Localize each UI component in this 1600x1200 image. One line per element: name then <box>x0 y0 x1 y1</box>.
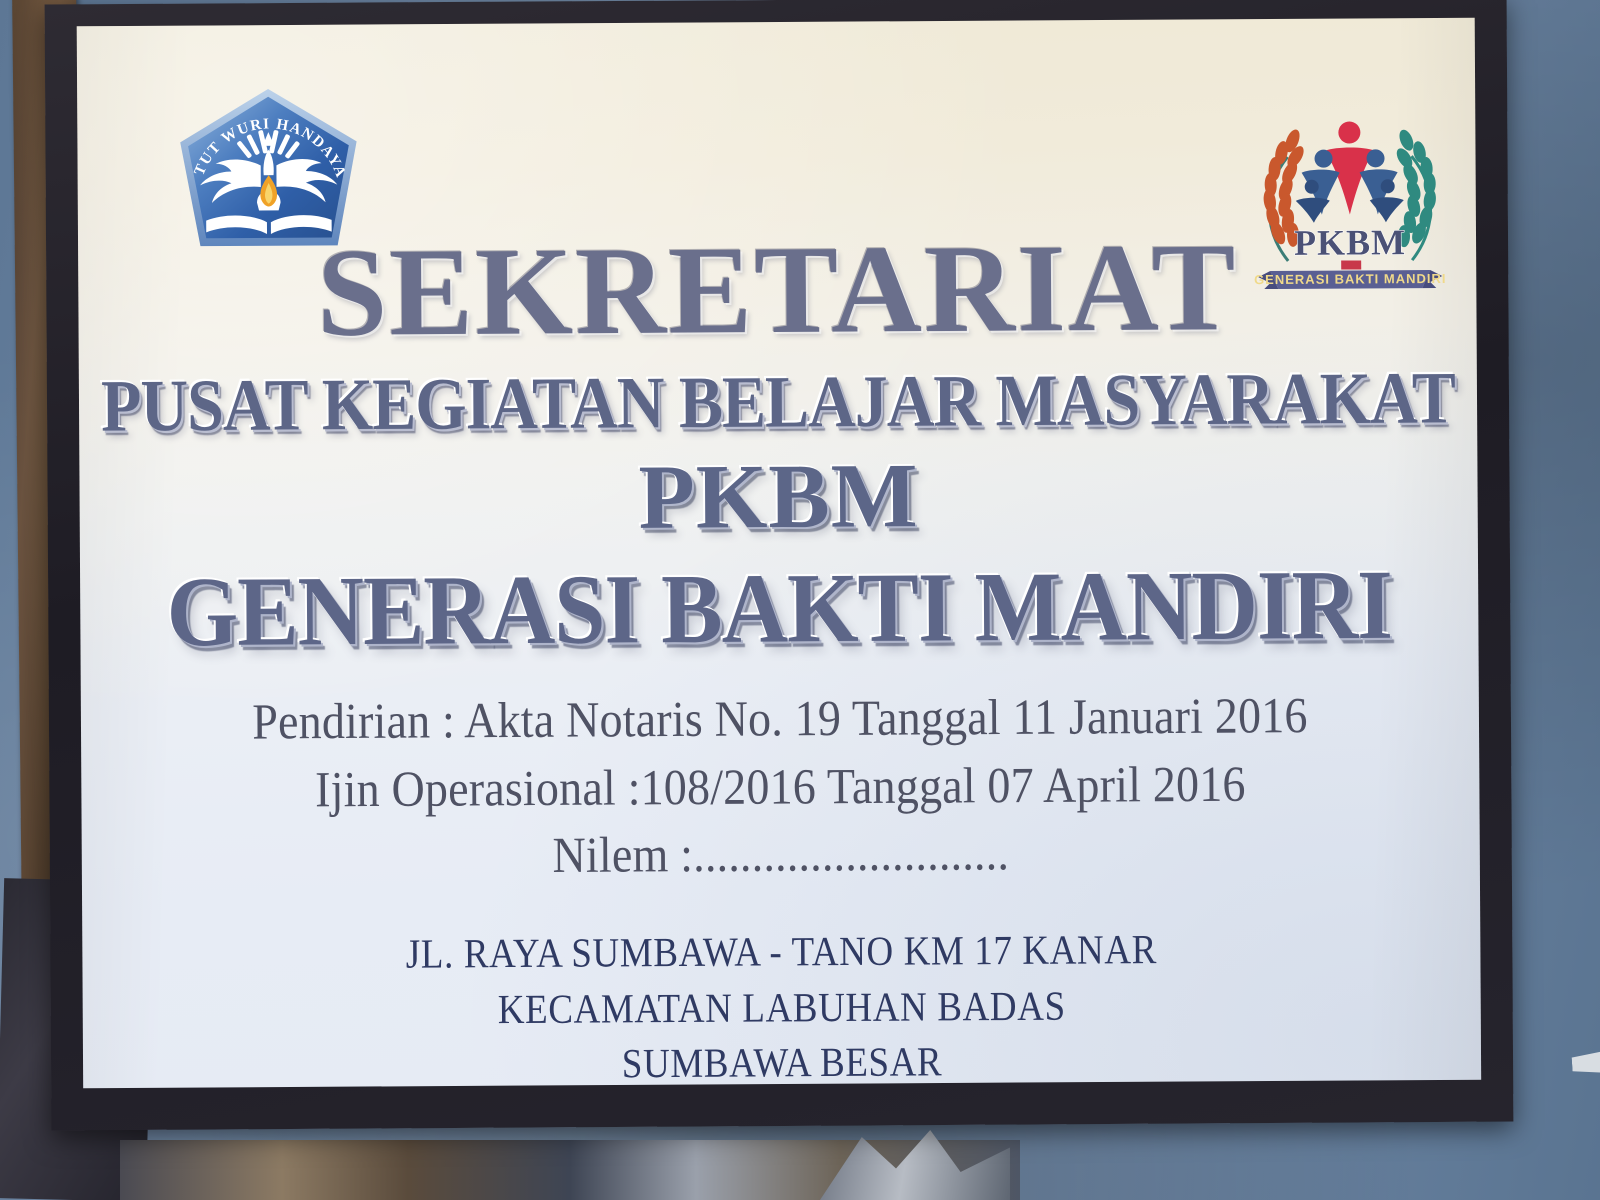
photo-scene: TUT WURI HANDAYANI <box>0 0 1600 1200</box>
signboard-panel: TUT WURI HANDAYANI <box>77 18 1481 1089</box>
legal-details-block: Pendirian : Akta Notaris No. 19 Tanggal … <box>81 680 1480 892</box>
organization-acronym: PKBM <box>79 446 1478 547</box>
organization-name: GENERASI BAKTI MANDIRI <box>80 554 1479 662</box>
page-title: SEKRETARIAT <box>78 224 1477 359</box>
address-line-district: KECAMATAN LABUHAN BADAS <box>83 976 1481 1040</box>
detail-line-establishment: Pendirian : Akta Notaris No. 19 Tanggal … <box>81 680 1479 756</box>
address-line-street: JL. RAYA SUMBAWA - TANO KM 17 KANAR <box>82 921 1480 985</box>
organization-type-line: PUSAT KEGIATAN BELAJAR MASYARAKAT <box>79 362 1477 444</box>
detail-line-operational-permit: Ijin Operasional :108/2016 Tanggal 07 Ap… <box>81 748 1479 824</box>
address-block: JL. RAYA SUMBAWA - TANO KM 17 KANAR KECA… <box>82 921 1481 1088</box>
mounting-clip <box>1571 1051 1600 1075</box>
address-line-city: SUMBAWA BESAR <box>83 1032 1481 1088</box>
signboard-frame: TUT WURI HANDAYANI <box>45 0 1514 1130</box>
detail-line-nilem: Nilem :........................... <box>82 816 1480 892</box>
